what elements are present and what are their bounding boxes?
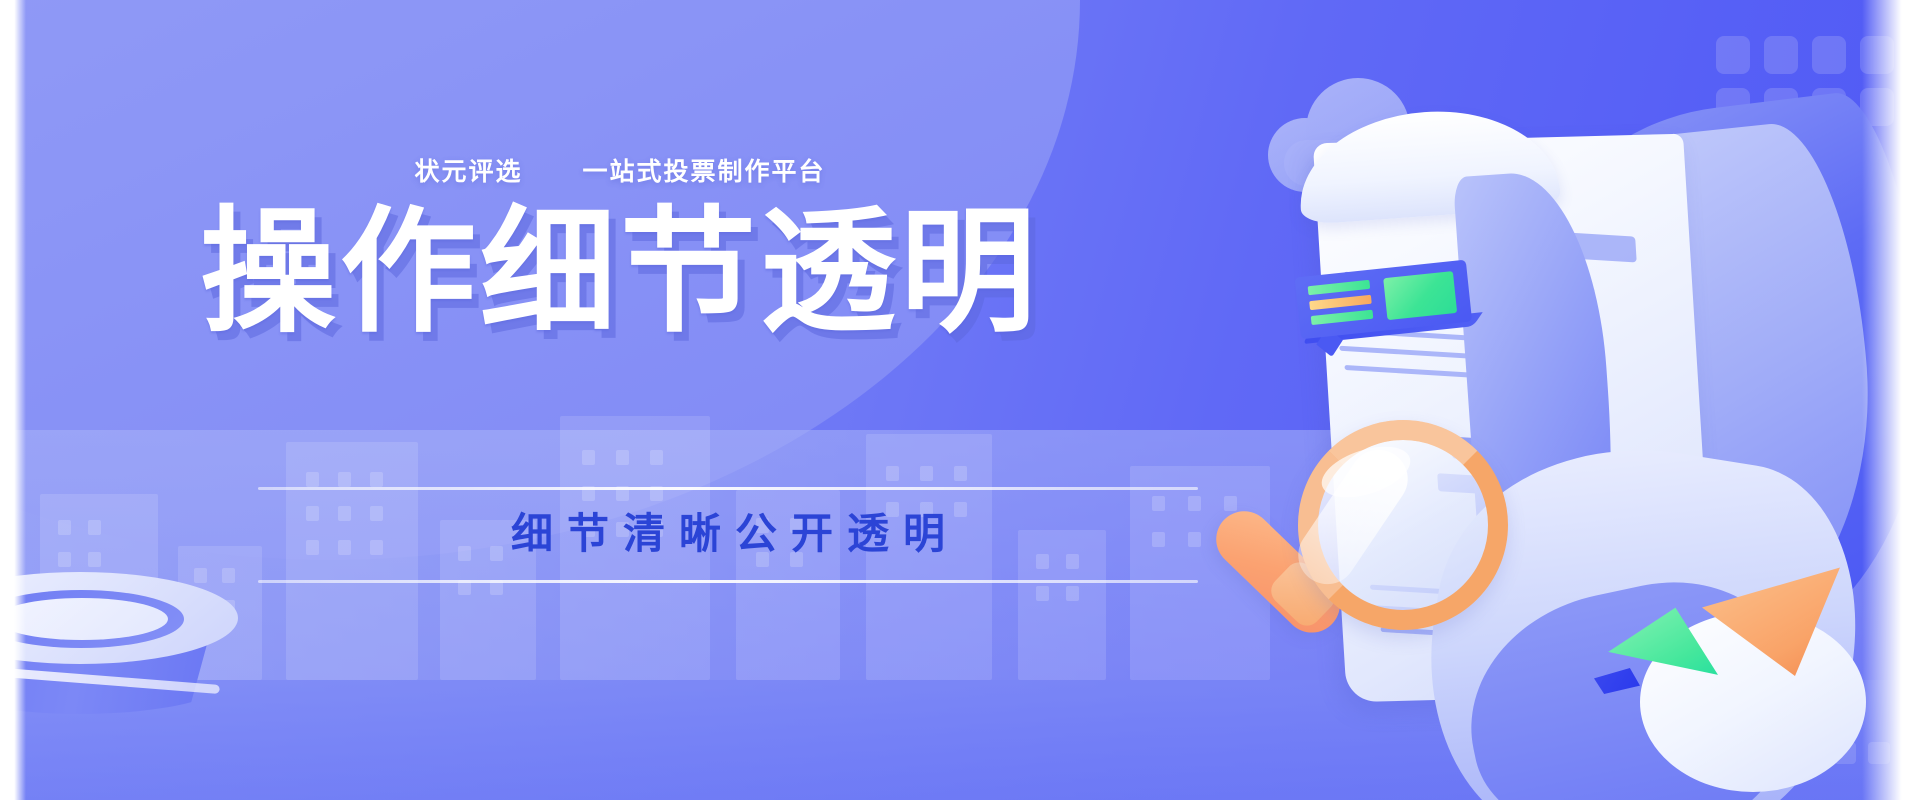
pie-chart-icon xyxy=(1588,540,1888,790)
divider-top xyxy=(258,487,1198,490)
eyebrow-right-text: 一站式投票制作平台 xyxy=(582,158,825,186)
page-edge-left xyxy=(0,0,26,800)
divider-bottom xyxy=(258,580,1198,583)
page-title: 操作细节透明 xyxy=(0,196,1240,348)
page-edge-right xyxy=(1862,0,1920,800)
banner-illustration xyxy=(1170,120,1920,800)
banner-copy: 状元评选 一站式投票制作平台 操作细节透明 细节清晰公开透明 xyxy=(0,0,1240,800)
promo-banner: 状元评选 一站式投票制作平台 操作细节透明 细节清晰公开透明 xyxy=(0,0,1920,800)
banner-eyebrow: 状元评选 一站式投票制作平台 xyxy=(0,152,1240,188)
magnifier-icon xyxy=(1198,420,1528,750)
eyebrow-left-text: 状元评选 xyxy=(415,158,523,186)
banner-tagline: 细节清晰公开透明 xyxy=(258,500,1198,568)
